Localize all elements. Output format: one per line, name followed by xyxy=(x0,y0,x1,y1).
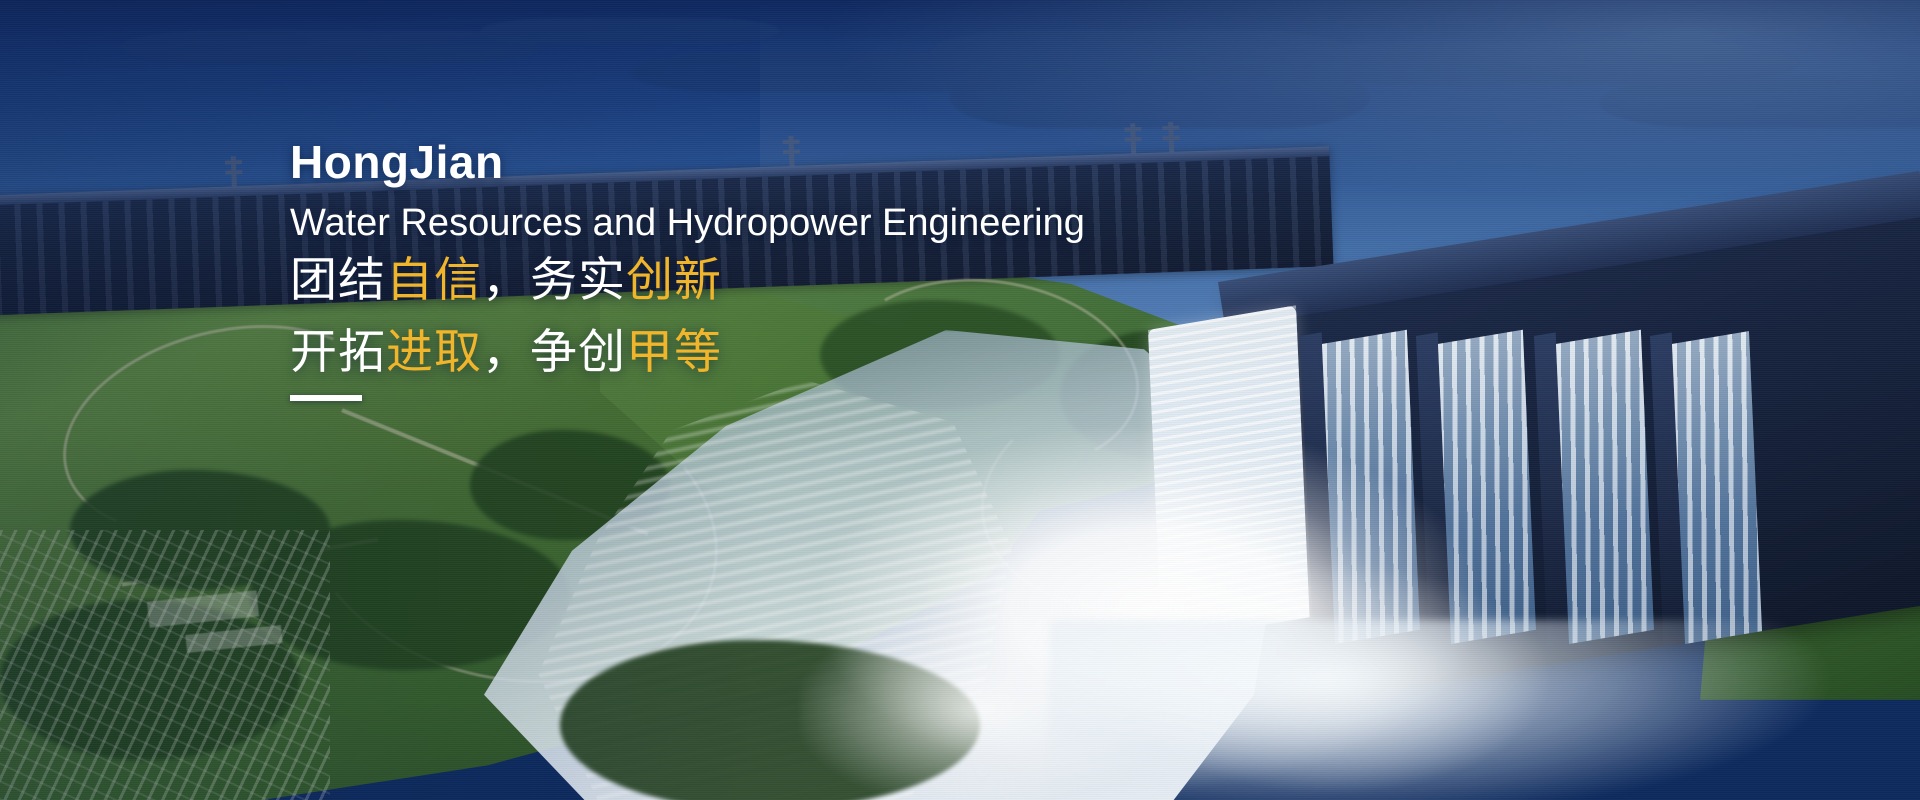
slogan-2-segment-white-a: 开拓 xyxy=(290,325,386,378)
village-settlement xyxy=(0,530,330,800)
shoreline-silhouette xyxy=(120,30,540,64)
slogan-1-segment-white-b: ，务实 xyxy=(482,253,626,306)
downstream-spray xyxy=(1050,620,1920,800)
spillway-chute xyxy=(1556,330,1654,644)
slogan-line-1: 团结自信，务实创新 xyxy=(290,244,1290,315)
spillway-chute xyxy=(1672,331,1762,644)
hero-banner: HongJian Water Resources and Hydropower … xyxy=(0,0,1920,800)
transmission-pylon xyxy=(231,156,237,190)
company-tagline-english: Water Resources and Hydropower Engineeri… xyxy=(290,202,1290,245)
slogan-2-segment-gold-b: 甲等 xyxy=(626,325,722,378)
slogan-line-2: 开拓进取，争创甲等 xyxy=(290,316,1290,387)
slogan-2-segment-white-b: ，争创 xyxy=(482,325,626,378)
shoreline-silhouette xyxy=(480,18,780,44)
slogan-1-segment-gold-b: 创新 xyxy=(626,253,722,306)
slogan-2-segment-gold-a: 进取 xyxy=(386,325,482,378)
banner-text-overlay: HongJian Water Resources and Hydropower … xyxy=(290,138,1290,401)
company-name: HongJian xyxy=(290,138,1290,188)
slogan-1-segment-white-a: 团结 xyxy=(290,253,386,306)
slogan-1-segment-gold-a: 自信 xyxy=(386,253,482,306)
accent-underline xyxy=(290,395,362,401)
